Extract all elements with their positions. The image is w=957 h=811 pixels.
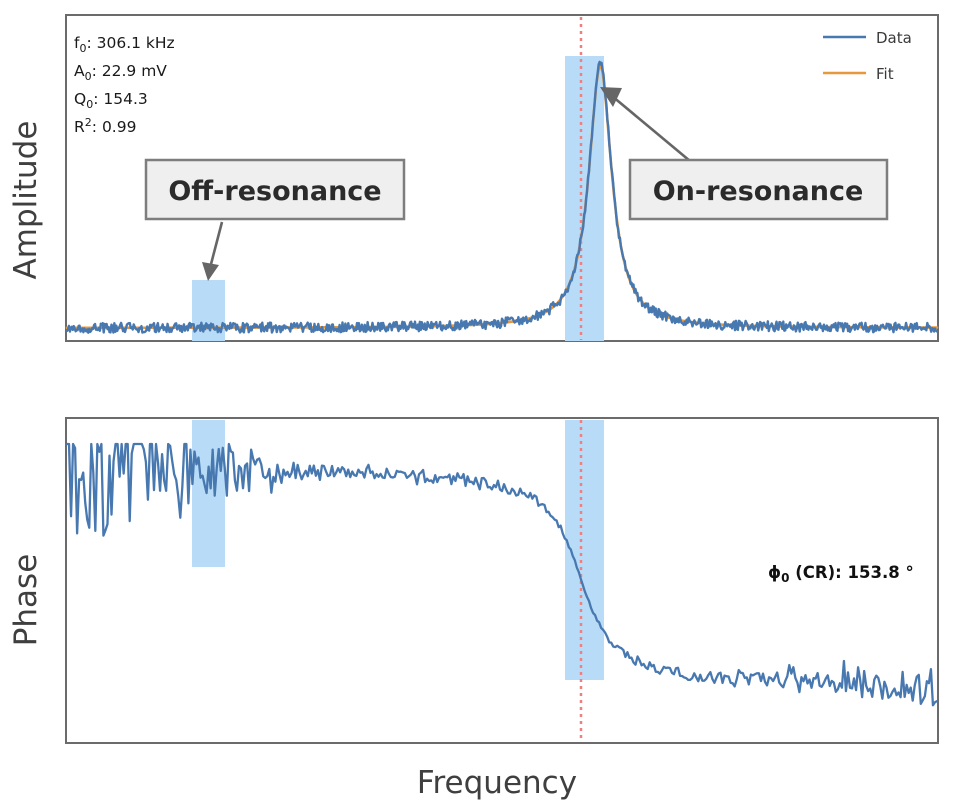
legend-label-data: Data <box>876 29 912 47</box>
fit-parameter-q0: Q0: 154.3 <box>74 90 148 111</box>
phase-off-resonance-band <box>192 420 225 567</box>
fit-parameter-f0: f0: 306.1 kHz <box>74 34 175 55</box>
phase-axis-label: Phase <box>8 554 44 647</box>
figure-root: Amplitude Phase Frequency f0: 306.1 kHz <box>0 0 957 811</box>
legend-label-fit: Fit <box>876 65 894 83</box>
amplitude-axis-label: Amplitude <box>8 121 44 280</box>
resonance-figure: Amplitude Phase Frequency f0: 306.1 kHz <box>0 0 957 811</box>
phase-panel: ϕ0 (CR): 153.8 ° <box>66 418 938 743</box>
off-resonance-callout-label: Off-resonance <box>168 176 381 207</box>
frequency-axis-label: Frequency <box>417 765 577 801</box>
phase-value-annotation: ϕ0 (CR): 153.8 ° <box>768 563 914 585</box>
on-resonance-callout-label: On-resonance <box>653 176 864 207</box>
fit-parameter-r2: R2: 0.99 <box>74 116 136 136</box>
amplitude-on-resonance-band <box>565 56 604 341</box>
